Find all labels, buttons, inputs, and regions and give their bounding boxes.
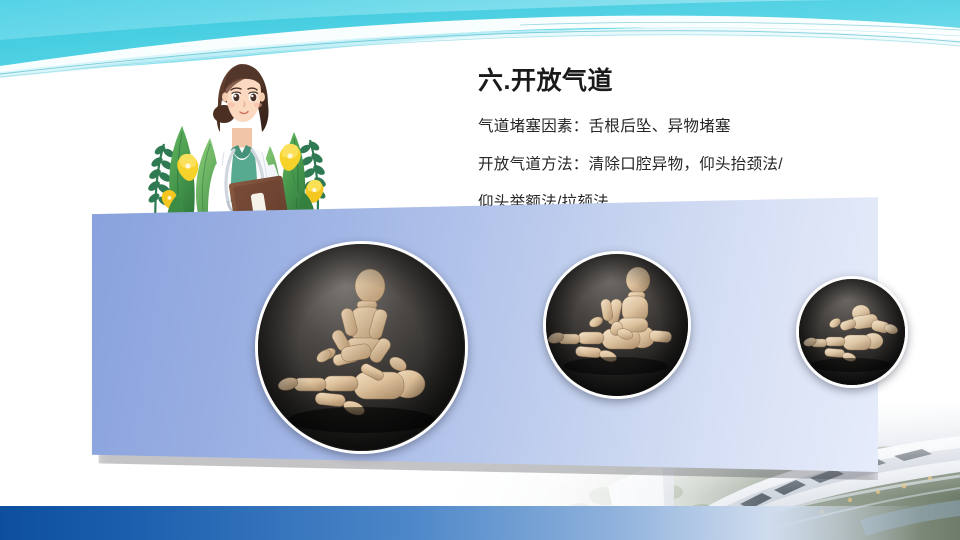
photo-airway-opening-large[interactable] xyxy=(255,241,468,454)
slide-text-block: 六.开放气道 气道堵塞因素：舌根后坠、异物堵塞 开放气道方法：清除口腔异物，仰头… xyxy=(478,66,898,216)
panel-surface xyxy=(88,196,878,488)
tilted-photo-panel xyxy=(88,196,878,496)
photo-chest-compression-medium[interactable] xyxy=(543,251,691,399)
page-title: 六.开放气道 xyxy=(478,66,898,97)
body-line-obstruction-factors: 气道堵塞因素：舌根后坠、异物堵塞 xyxy=(478,114,898,139)
photo-recovery-position-small[interactable] xyxy=(796,276,908,388)
slide-canvas: 六.开放气道 气道堵塞因素：舌根后坠、异物堵塞 开放气道方法：清除口腔异物，仰头… xyxy=(0,0,960,540)
body-line-methods-part1: 开放气道方法：清除口腔异物，仰头抬颈法/ xyxy=(478,152,898,177)
blue-gradient-bar xyxy=(0,506,960,540)
